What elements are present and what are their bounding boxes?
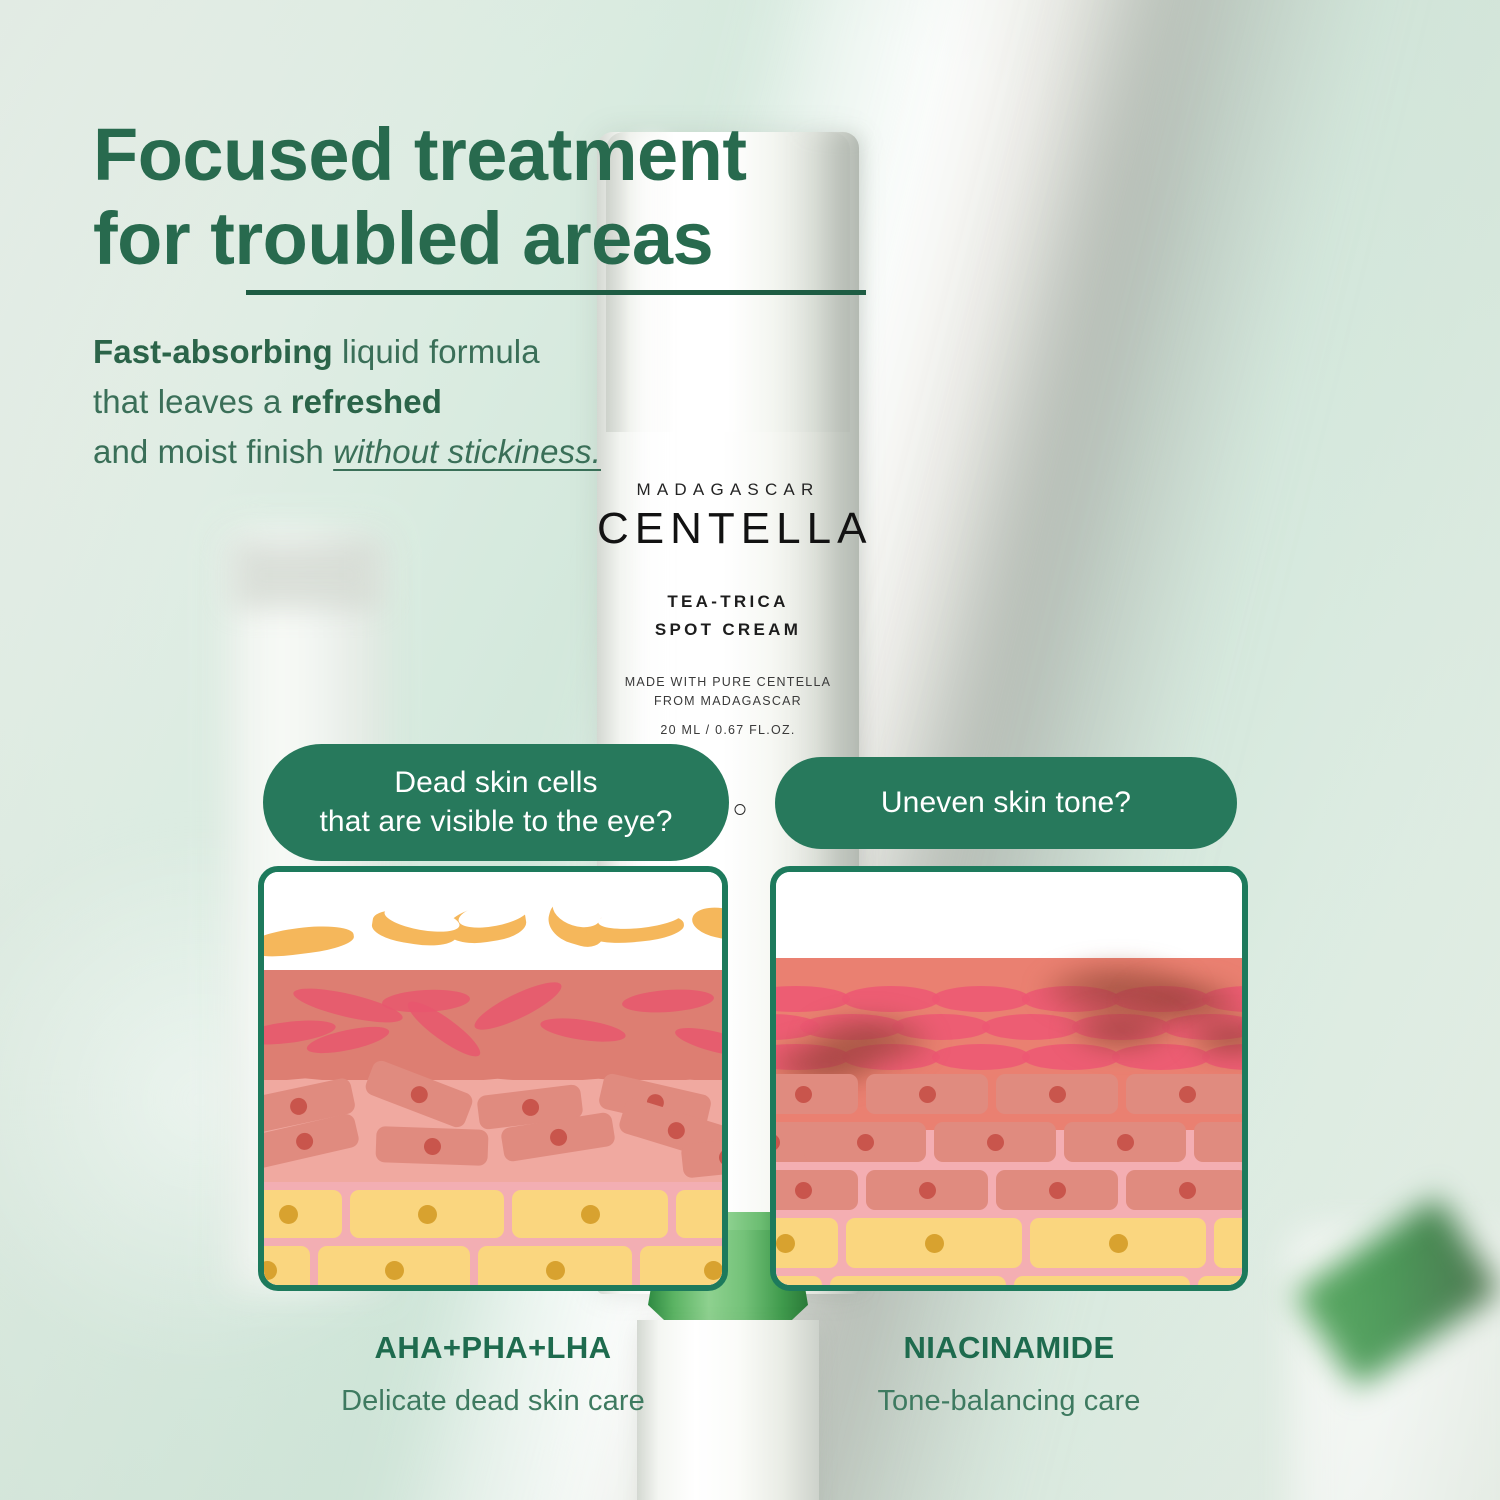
subcopy-line-3: and moist finish without stickiness.: [93, 427, 601, 477]
label-description: MADE WITH PURE CENTELLA FROM MADAGASCAR: [597, 673, 859, 710]
skin-cell: [770, 1170, 858, 1210]
dermis-cell: [842, 986, 940, 1012]
fat-cell: [478, 1246, 632, 1291]
label-brand-top: MADAGASCAR: [597, 480, 859, 500]
fat-cell: [676, 1190, 728, 1238]
dermis-cell: [932, 1044, 1030, 1070]
skin-cell: [1126, 1074, 1248, 1114]
product-label: MADAGASCAR CENTELLA TEA-TRICA SPOT CREAM…: [597, 480, 859, 737]
badge-uneven-tone-question[interactable]: Uneven skin tone?: [775, 757, 1237, 849]
subcopy-line-1: Fast-absorbing liquid formula: [93, 327, 601, 377]
skin-cell: [804, 1122, 926, 1162]
dot-icon: [735, 804, 746, 815]
fat-cell: [258, 1190, 342, 1238]
dermis-cell: [982, 1014, 1080, 1040]
layer-surface-white: [776, 872, 1242, 968]
skin-cross-section-left: [264, 872, 722, 1285]
caption-left-sub: Delicate dead skin care: [258, 1385, 728, 1418]
fat-cell: [512, 1190, 668, 1238]
fat-cell: [846, 1218, 1022, 1268]
label-product-line1: TEA-TRICA: [597, 588, 859, 616]
fat-cell: [350, 1190, 504, 1238]
skin-cell: [375, 1126, 488, 1166]
diagram-card-uneven-tone: [770, 866, 1248, 1291]
skin-cell: [1194, 1122, 1248, 1162]
label-product-name: TEA-TRICA SPOT CREAM: [597, 588, 859, 643]
dermis-cell: [932, 986, 1030, 1012]
fat-cell: [770, 1218, 838, 1268]
label-volume: 20 ML / 0.67 FL.OZ.: [597, 723, 859, 737]
subcopy-line-2: that leaves a refreshed: [93, 377, 601, 427]
skin-cell: [866, 1170, 988, 1210]
fat-cell: [258, 1246, 310, 1291]
label-brand-main: CENTELLA: [597, 504, 859, 554]
caption-left: AHA+PHA+LHA Delicate dead skin care: [258, 1330, 728, 1418]
fat-cell: [640, 1246, 728, 1291]
subcopy-line2-pre: that leaves a: [93, 383, 291, 420]
caption-right-sub: Tone-balancing care: [770, 1385, 1248, 1418]
badge-dead-skin-question[interactable]: Dead skin cells that are visible to the …: [263, 744, 729, 861]
subcopy-italic-without-stickiness: without stickiness.: [333, 433, 601, 470]
subcopy-line3-pre: and moist finish: [93, 433, 333, 470]
caption-right: NIACINAMIDE Tone-balancing care: [770, 1330, 1248, 1418]
subcopy-bold-refreshed: refreshed: [291, 383, 442, 420]
skin-cell: [934, 1122, 1056, 1162]
subcopy-line1-rest: liquid formula: [333, 333, 540, 370]
skin-cell: [1064, 1122, 1186, 1162]
fat-cell: [1030, 1218, 1206, 1268]
fat-cell: [1014, 1276, 1190, 1291]
diagram-card-dead-skin: [258, 866, 728, 1291]
poster-canvas: MADAGASCAR CENTELLA TEA-TRICA SPOT CREAM…: [0, 0, 1500, 1500]
skin-cell: [866, 1074, 988, 1114]
skin-cross-section-right: [776, 872, 1242, 1285]
fat-cell: [318, 1246, 470, 1291]
fat-cell: [830, 1276, 1006, 1291]
caption-left-title: AHA+PHA+LHA: [258, 1330, 728, 1366]
pigment-blotch: [1066, 1008, 1176, 1054]
label-desc-line2: FROM MADAGASCAR: [597, 692, 859, 711]
skin-cell: [1126, 1170, 1248, 1210]
label-desc-line1: MADE WITH PURE CENTELLA: [597, 673, 859, 692]
skin-cell: [996, 1074, 1118, 1114]
subcopy-bold-fast-absorbing: Fast-absorbing: [93, 333, 333, 370]
headline-underline: [246, 290, 866, 295]
skin-cell: [996, 1170, 1118, 1210]
page-headline: Focused treatment for troubled areas: [93, 113, 747, 282]
page-subcopy: Fast-absorbing liquid formula that leave…: [93, 327, 601, 477]
label-product-line2: SPOT CREAM: [597, 616, 859, 644]
caption-right-title: NIACINAMIDE: [770, 1330, 1248, 1366]
skin-cell: [770, 1074, 858, 1114]
fat-cell: [1214, 1218, 1248, 1268]
